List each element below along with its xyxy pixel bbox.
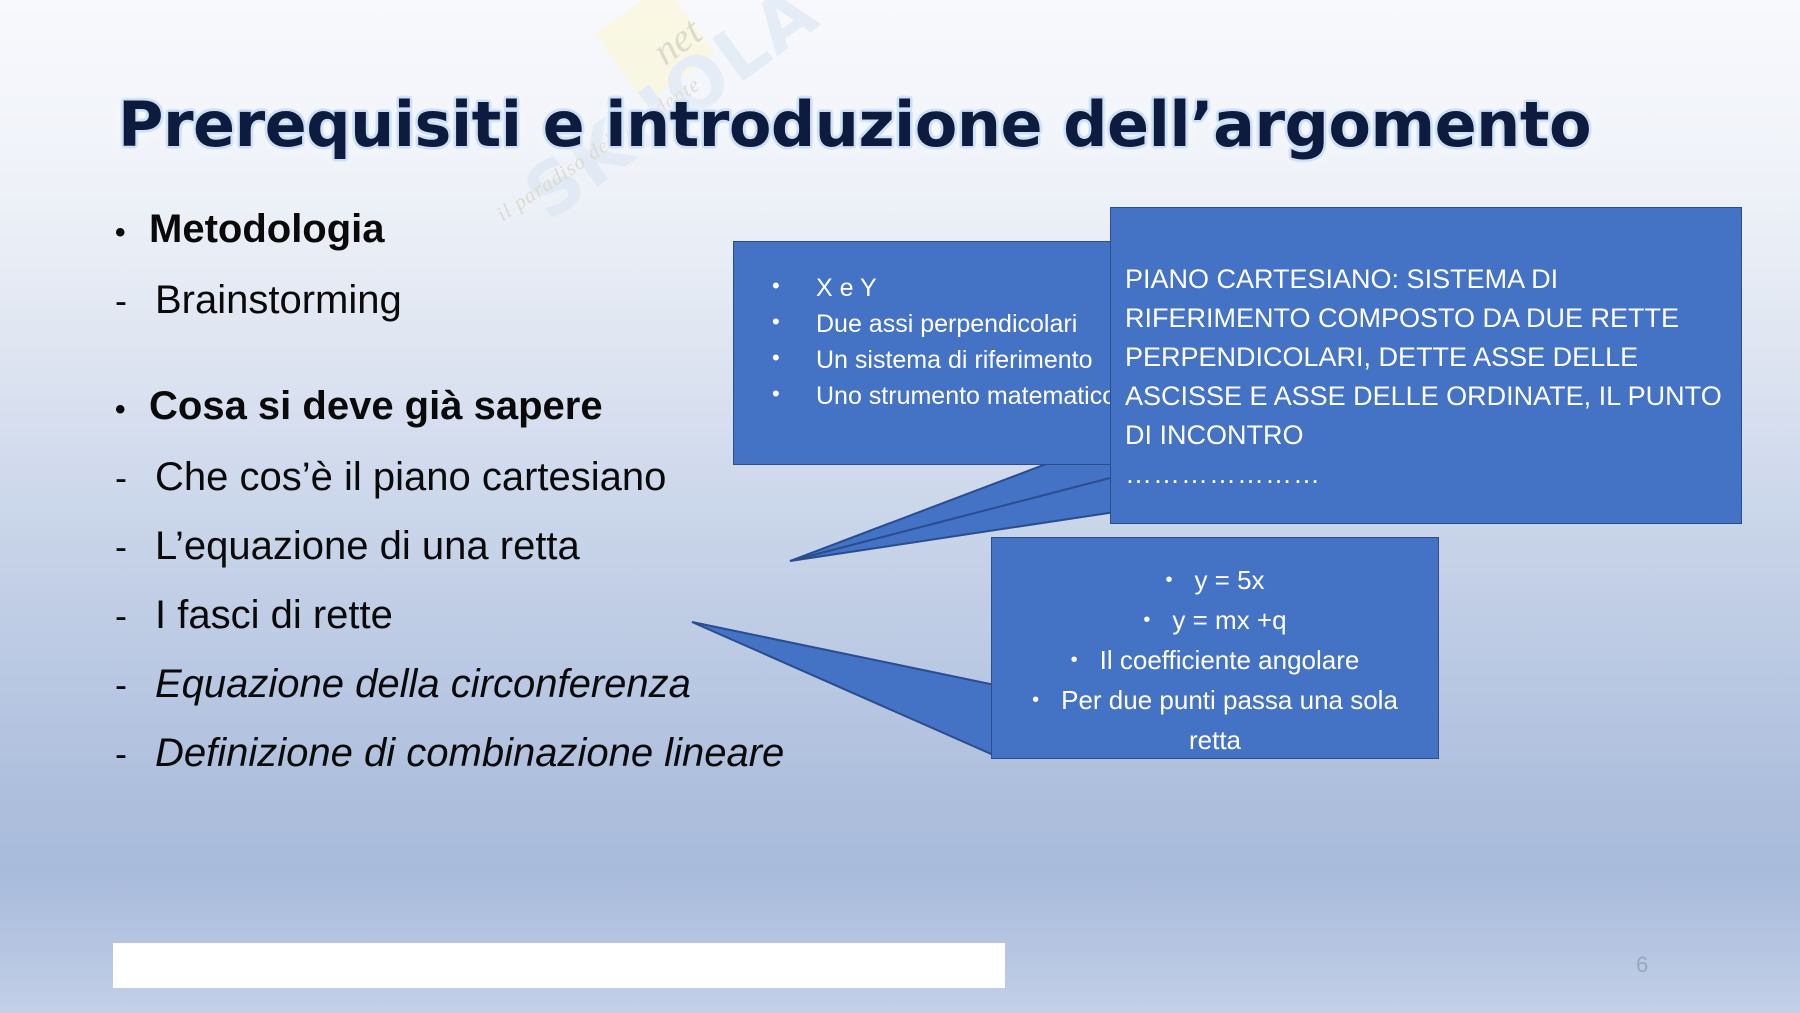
- outline-item-piano-cartesiano: - Che cos’è il piano cartesiano: [115, 443, 805, 512]
- callout-definizione-text: PIANO CARTESIANO: SISTEMA DI RIFERIMENTO…: [1125, 260, 1731, 455]
- outline-item-equazione-retta: - L’equazione di una retta: [115, 512, 805, 581]
- dash-marker: -: [115, 513, 155, 581]
- bullet-marker: •: [115, 200, 149, 266]
- outline-heading-label: Metodologia: [149, 196, 385, 262]
- outline-heading-prerequisiti: • Cosa si deve già sapere: [115, 373, 805, 443]
- callout-definizione: PIANO CARTESIANO: SISTEMA DI RIFERIMENTO…: [1110, 207, 1742, 524]
- watermark-suffix: net: [643, 8, 710, 75]
- callout-list-item-label: y = mx +q: [1172, 605, 1286, 635]
- callout-list-item: X e Y: [772, 270, 1124, 306]
- bullet-marker: •: [1032, 680, 1039, 720]
- bullet-marker: •: [1165, 560, 1172, 600]
- callout-list-item: •y = mx +q: [1006, 600, 1424, 640]
- outline-item-label: Equazione della circonferenza: [155, 650, 691, 718]
- callout-list-item-label: Il coefficiente angolare: [1100, 645, 1360, 675]
- outline-item-brainstorming: - Brainstorming: [115, 266, 805, 335]
- outline-item-label: I fasci di rette: [155, 581, 393, 649]
- outline-heading-metodologia: • Metodologia: [115, 196, 805, 266]
- callout-list-item: Un sistema di riferimento: [772, 342, 1124, 378]
- callout-list-item-label: y = 5x: [1194, 565, 1264, 595]
- dash-marker: -: [115, 720, 155, 788]
- bullet-marker: •: [1071, 640, 1078, 680]
- outline-item-label: Brainstorming: [155, 266, 402, 334]
- callout-list-item-label: Per due punti passa una sola retta: [1061, 685, 1398, 755]
- outline-item-circonferenza: - Equazione della circonferenza: [115, 650, 805, 719]
- outline-spacer: [115, 335, 805, 373]
- outline-item-fasci-rette: - I fasci di rette: [115, 581, 805, 650]
- outline-item-combinazione-lineare: - Definizione di combinazione lineare: [115, 719, 805, 788]
- callout-equazione-retta: •y = 5x •y = mx +q •Il coefficiente ango…: [991, 537, 1439, 759]
- callout-brainstorm-list: X e Y Due assi perpendicolari Un sistema…: [772, 270, 1124, 414]
- page-number: 6: [1636, 952, 1648, 978]
- outline-item-label: Definizione di combinazione lineare: [155, 719, 784, 787]
- outline-heading-label: Cosa si deve già sapere: [149, 373, 603, 439]
- bullet-marker: •: [1143, 600, 1150, 640]
- slide-title: Prerequisiti e introduzione dell’argomen…: [118, 88, 1591, 161]
- callout-brainstorm: X e Y Due assi perpendicolari Un sistema…: [733, 241, 1125, 465]
- dash-marker: -: [115, 444, 155, 512]
- bullet-marker: •: [115, 377, 149, 443]
- outline-item-label: Che cos’è il piano cartesiano: [155, 443, 666, 511]
- dash-marker: -: [115, 267, 155, 335]
- footer-white-bar: [113, 943, 1005, 988]
- callout-equazione-list: •y = 5x •y = mx +q •Il coefficiente ango…: [1006, 560, 1424, 760]
- presentation-slide: SKUOLA net il paradiso dello studente Pr…: [0, 0, 1800, 1013]
- dash-marker: -: [115, 582, 155, 650]
- outline-list: • Metodologia - Brainstorming • Cosa si …: [115, 196, 805, 788]
- outline-item-label: L’equazione di una retta: [155, 512, 580, 580]
- dash-marker: -: [115, 651, 155, 719]
- callout-definizione-continuation: …………………: [1125, 455, 1731, 494]
- callout-list-item: Due assi perpendicolari: [772, 306, 1124, 342]
- callout-list-item: •Per due punti passa una sola retta: [1006, 680, 1424, 760]
- callout-list-item: Uno strumento matematico: [772, 378, 1124, 414]
- callout-list-item: •Il coefficiente angolare: [1006, 640, 1424, 680]
- callout-list-item: •y = 5x: [1006, 560, 1424, 600]
